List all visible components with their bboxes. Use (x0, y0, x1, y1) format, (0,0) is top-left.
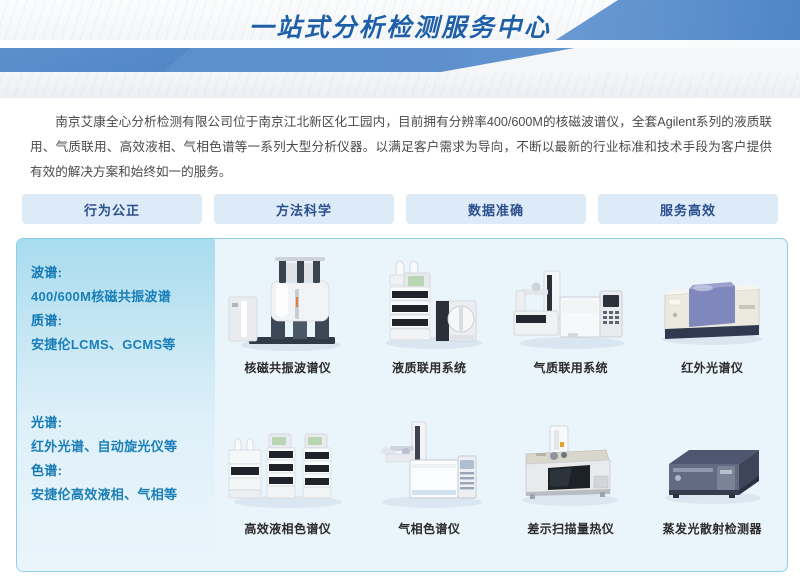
sidebar-value-ir-polarimeter: 红外光谱、自动旋光仪等 (31, 435, 215, 459)
sidebar-value-hplc-gc: 安捷伦高效液相、气相等 (31, 483, 215, 507)
gc-image (360, 406, 498, 518)
feature-badges: 行为公正 方法科学 数据准确 服务高效 (22, 194, 778, 224)
instrument-caption: 蒸发光散射检测器 (663, 520, 762, 537)
instrument-caption: 液质联用系统 (392, 359, 466, 376)
instrument-cell-lcms[interactable]: 液质联用系统 (359, 245, 501, 406)
badge-accurate-data[interactable]: 数据准确 (406, 194, 586, 224)
badge-fair-conduct[interactable]: 行为公正 (22, 194, 202, 224)
sidebar-label-boqu: 波谱: (31, 261, 215, 285)
page-title: 一站式分析检测服务中心 (0, 6, 800, 46)
instrument-category-sidebar: 波谱: 400/600M核磁共振波谱 质谱: 安捷伦LCMS、GCMS等 光谱:… (17, 239, 215, 571)
sidebar-group-spectroscopy-ms: 波谱: 400/600M核磁共振波谱 质谱: 安捷伦LCMS、GCMS等 (31, 261, 215, 357)
ir-spectrometer-image (643, 245, 781, 357)
instrument-cell-ir[interactable]: 红外光谱仪 (642, 245, 784, 406)
sidebar-group-optical-chromatography: 光谱: 红外光谱、自动旋光仪等 色谱: 安捷伦高效液相、气相等 (31, 411, 215, 507)
instrument-caption: 气相色谱仪 (398, 520, 460, 537)
instrument-cell-gc[interactable]: 气相色谱仪 (359, 406, 501, 567)
gcms-system-image (502, 245, 640, 357)
instrument-cell-elsd[interactable]: 蒸发光散射检测器 (642, 406, 784, 567)
instrument-grid: 核磁共振波谱仪 (215, 239, 787, 571)
badge-efficient-service[interactable]: 服务高效 (598, 194, 778, 224)
instrument-cell-hplc[interactable]: 高效液相色谱仪 (217, 406, 359, 567)
nmr-spectrometer-image (219, 245, 357, 357)
badge-scientific-method[interactable]: 方法科学 (214, 194, 394, 224)
elsd-image (643, 406, 781, 518)
header-banner: 一站式分析检测服务中心 (0, 0, 800, 98)
dsc-image (502, 406, 640, 518)
instrument-cell-dsc[interactable]: 差示扫描量热仪 (500, 406, 642, 567)
intro-paragraph: 南京艾康全心分析检测有限公司位于南京江北新区化工园内，目前拥有分辨率400/60… (30, 110, 772, 186)
instrument-caption: 差示扫描量热仪 (527, 520, 614, 537)
sidebar-value-lcms-gcms: 安捷伦LCMS、GCMS等 (31, 333, 215, 357)
page-root: 一站式分析检测服务中心 南京艾康全心分析检测有限公司位于南京江北新区化工园内，目… (0, 0, 800, 586)
instrument-caption: 气质联用系统 (534, 359, 608, 376)
instrument-panel: 波谱: 400/600M核磁共振波谱 质谱: 安捷伦LCMS、GCMS等 光谱:… (16, 238, 788, 572)
lcms-system-image (360, 245, 498, 357)
instrument-cell-nmr[interactable]: 核磁共振波谱仪 (217, 245, 359, 406)
instrument-caption: 红外光谱仪 (681, 359, 743, 376)
instrument-cell-gcms[interactable]: 气质联用系统 (500, 245, 642, 406)
sidebar-label-zhipu: 质谱: (31, 309, 215, 333)
hplc-image (219, 406, 357, 518)
instrument-caption: 高效液相色谱仪 (244, 520, 331, 537)
banner-bottom-strip (0, 72, 800, 98)
sidebar-label-guangpu: 光谱: (31, 411, 215, 435)
sidebar-value-nmr: 400/600M核磁共振波谱 (31, 285, 215, 309)
instrument-caption: 核磁共振波谱仪 (244, 359, 331, 376)
sidebar-label-sepu: 色谱: (31, 459, 215, 483)
